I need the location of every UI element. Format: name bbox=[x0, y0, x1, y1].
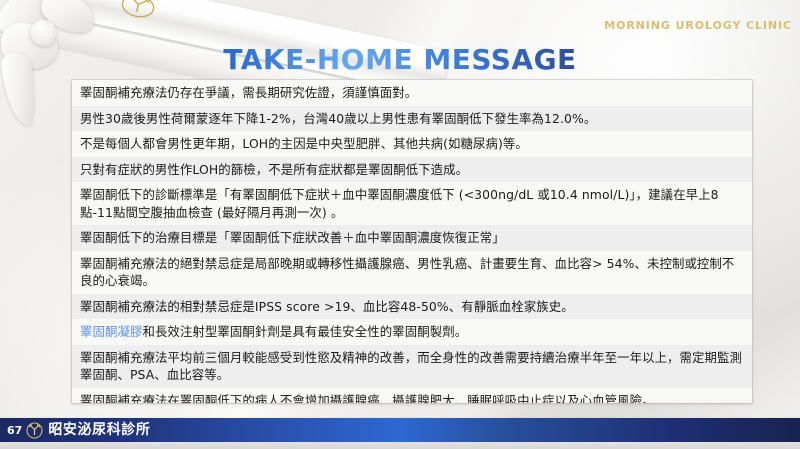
page-title: TAKE-HOME MESSAGE bbox=[0, 43, 800, 76]
footer-bar: 67 昭安泌尿科診所 bbox=[0, 418, 800, 442]
content-panel: 睪固酮補充療法仍存在爭議，需長期研究佐證，須謹慎面對。男性30歲後男性荷爾蒙逐年… bbox=[72, 80, 752, 403]
bullet-line: 睪固酮低下的診斷標準是「有睪固酮低下症狀＋血中睪固酮濃度低下 (<300ng/d… bbox=[72, 182, 752, 225]
bullet-text: 睪固酮補充療法在睪固酮低下的病人不會增加攝護腺癌、攝護腺肥大、睡眠呼吸中止症以及… bbox=[80, 393, 655, 404]
bullet-line: 睪固酮補充療法的相對禁忌症是IPSS score >19、血比容48-50%、有… bbox=[72, 294, 752, 320]
clinic-name: 昭安泌尿科診所 bbox=[48, 423, 150, 437]
bullet-text: 只對有症狀的男性作LOH的篩檢，不是所有症狀都是睪固酮低下造成。 bbox=[80, 162, 468, 177]
bullet-line: 睪固酮補充療法在睪固酮低下的病人不會增加攝護腺癌、攝護腺肥大、睡眠呼吸中止症以及… bbox=[72, 388, 752, 404]
bow-loop-left bbox=[0, 0, 63, 43]
bullet-text: 睪固酮補充療法平均前三個月較能感受到性慾及精神的改善，而全身性的改善需要持續治療… bbox=[80, 350, 742, 383]
bullet-line: 睪固酮補充療法仍存在爭議，需長期研究佐證，須謹慎面對。 bbox=[72, 80, 752, 106]
highlighted-term: 睪固酮凝膠 bbox=[80, 324, 142, 339]
bullet-text: 睪固酮低下的診斷標準是「有睪固酮低下症狀＋血中睪固酮濃度低下 (<300ng/d… bbox=[80, 187, 719, 220]
clinic-brand-text: MORNING UROLOGY CLINIC bbox=[604, 19, 792, 32]
bullet-line: 男性30歲後男性荷爾蒙逐年下降1-2%，台灣40歲以上男性患有睪固酮低下發生率為… bbox=[72, 106, 752, 132]
bullet-line: 睪固酮補充療法平均前三個月較能感受到性慾及精神的改善，而全身性的改善需要持續治療… bbox=[72, 345, 752, 388]
bullet-line: 睪固酮凝膠和長效注射型睪固酮針劑是具有最佳安全性的睪固酮製劑。 bbox=[72, 319, 752, 345]
bullet-line: 睪固酮低下的治療目標是「睪固酮低下症狀改善＋血中睪固酮濃度恢復正常」 bbox=[72, 225, 752, 251]
bullet-text: 睪固酮補充療法的相對禁忌症是IPSS score >19、血比容48-50%、有… bbox=[80, 299, 574, 314]
clinic-emblem-icon bbox=[118, 0, 159, 22]
bullet-text: 睪固酮低下的治療目標是「睪固酮低下症狀改善＋血中睪固酮濃度恢復正常」 bbox=[80, 230, 505, 245]
bullet-text: 男性30歲後男性荷爾蒙逐年下降1-2%，台灣40歲以上男性患有睪固酮低下發生率為… bbox=[80, 111, 596, 126]
bullet-text: 睪固酮補充療法的絕對禁忌症是局部晚期或轉移性攝護腺癌、男性乳癌、計畫要生育、血比… bbox=[80, 256, 734, 289]
bullet-line: 只對有症狀的男性作LOH的篩檢，不是所有症狀都是睪固酮低下造成。 bbox=[72, 157, 752, 183]
bullet-line: 睪固酮補充療法的絕對禁忌症是局部晚期或轉移性攝護腺癌、男性乳癌、計畫要生育、血比… bbox=[72, 251, 752, 294]
clinic-emblem-icon bbox=[26, 422, 43, 439]
bullet-line: 不是每個人都會男性更年期，LOH的主因是中央型肥胖、其他共病(如糖尿病)等。 bbox=[72, 131, 752, 157]
page-number: 67 bbox=[7, 425, 22, 436]
bullet-text: 不是每個人都會男性更年期，LOH的主因是中央型肥胖、其他共病(如糖尿病)等。 bbox=[80, 136, 528, 151]
bullet-text: 和長效注射型睪固酮針劑是具有最佳安全性的睪固酮製劑。 bbox=[142, 324, 467, 339]
bow-loop-right bbox=[36, 0, 101, 39]
bullet-text: 睪固酮補充療法仍存在爭議，需長期研究佐證，須謹慎面對。 bbox=[80, 85, 417, 100]
footer-shadow-strip bbox=[0, 442, 800, 449]
slide-canvas: MORNING UROLOGY CLINIC TAKE-HOME MESSAGE… bbox=[0, 0, 800, 449]
